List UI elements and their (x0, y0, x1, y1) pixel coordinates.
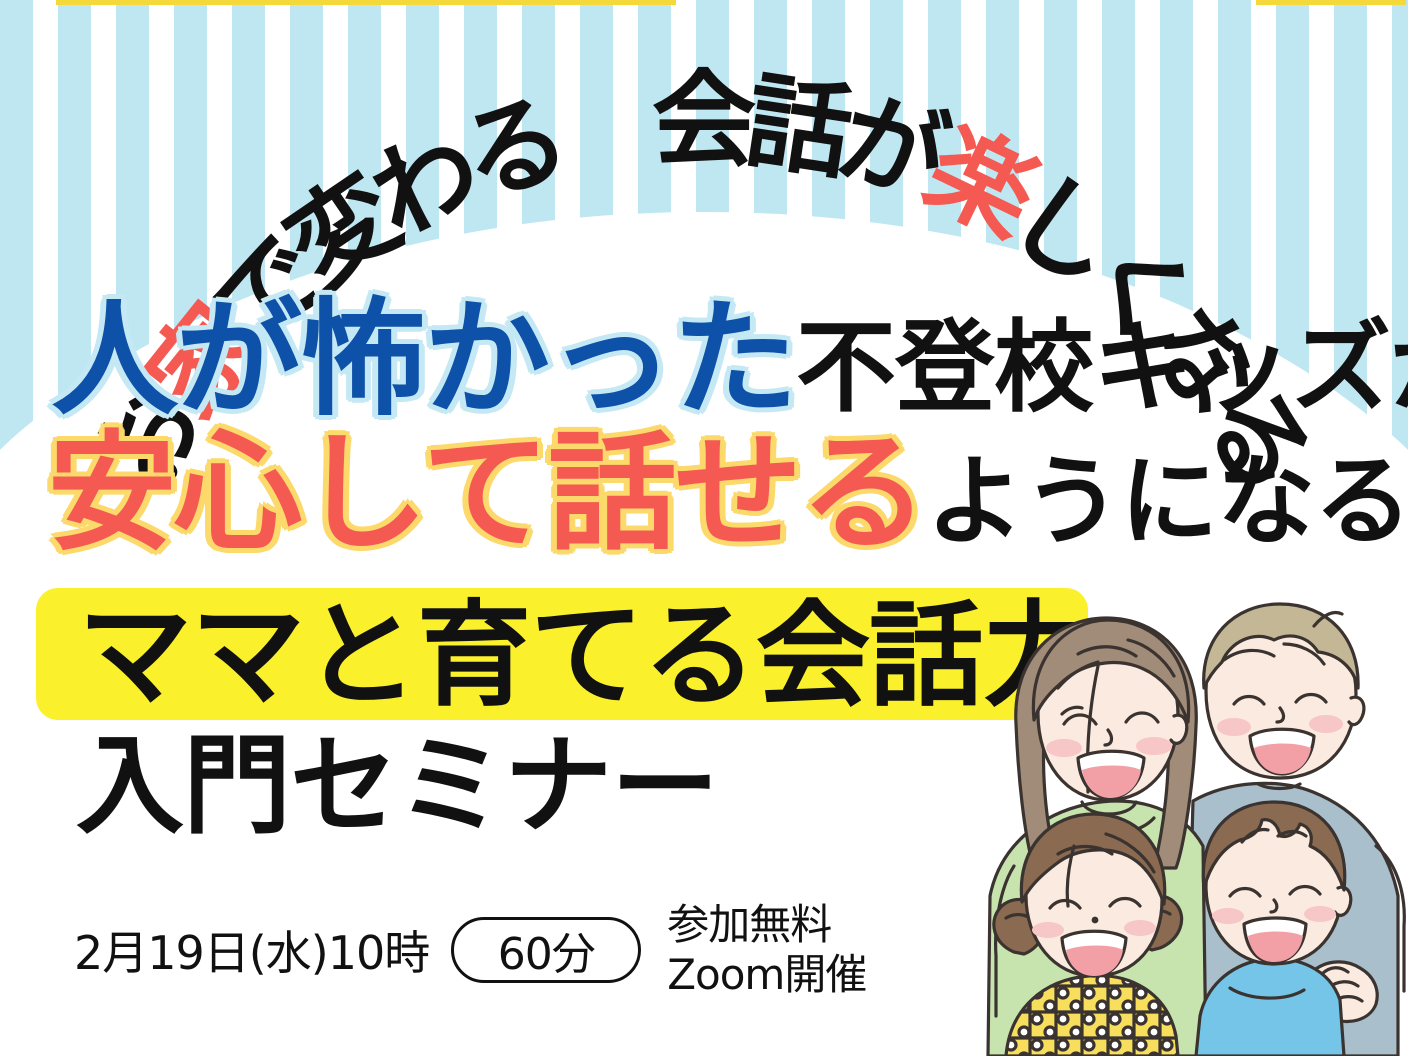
flyer-canvas: お家で変わる会話が楽しくなる 人が怖かった 不登校キッズが 安心して話せる よう… (0, 0, 1408, 1056)
headline-line-1: 人が怖かった 不登校キッズが (0, 296, 1408, 425)
duration-label: 60分 (498, 918, 595, 982)
headline-line2-black: ようになる (926, 453, 1408, 559)
headline-line2-red: 安心して話せる (48, 429, 926, 560)
event-date: 2月19日(水)10時 (74, 917, 429, 983)
seminar-subtitle: 入門セミナー (76, 730, 718, 843)
arch-char-7: 会 (652, 68, 756, 172)
note-zoom: Zoom開催 (667, 950, 866, 1000)
highlight-title: ママと育てる会話力 (78, 596, 1095, 716)
event-notes: 参加無料 Zoom開催 (667, 900, 866, 999)
family-illustration (978, 596, 1408, 1056)
top-yellow-rule-right (1256, 0, 1406, 5)
headline-line-2: 安心して話せる ようになる (0, 429, 1408, 560)
main-headline-block: 人が怖かった 不登校キッズが 安心して話せる ようになる (0, 296, 1408, 559)
event-details-row: 2月19日(水)10時 60分 参加無料 Zoom開催 (74, 900, 866, 999)
headline-line1-blue: 人が怖かった (52, 296, 796, 425)
top-yellow-rule-left (56, 0, 676, 5)
duration-badge: 60分 (451, 917, 641, 983)
arched-headline: お家で変わる会話が楽しくなる (0, 0, 1408, 320)
note-free-entry: 参加無料 (667, 900, 866, 950)
headline-line1-black: 不登校キッズが (796, 317, 1408, 425)
